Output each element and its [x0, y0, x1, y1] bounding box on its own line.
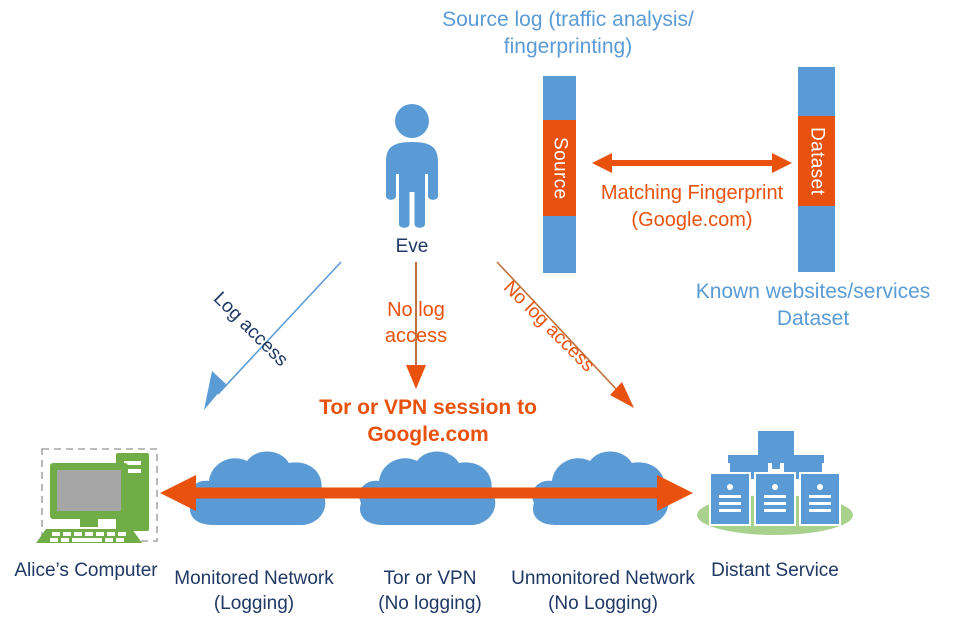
no-log-access-center-label: No log access: [356, 297, 476, 349]
session-path-arrow-icon: [160, 472, 693, 514]
network-label-tor-vpn-line2: (No logging): [360, 591, 500, 616]
person-icon: [378, 104, 446, 229]
network-label-unmonitored-line2: (No Logging): [505, 591, 701, 616]
source-log-title: Source log (traffic analysis/ fingerprin…: [388, 6, 748, 60]
network-label-unmonitored-line1: Unmonitored Network: [505, 566, 701, 591]
matching-fingerprint-arrow-icon: [592, 150, 792, 176]
dataset-bar: Dataset: [798, 67, 835, 272]
dataset-bar-bottom-segment: [798, 206, 835, 272]
network-label-unmonitored: Unmonitored Network (No Logging): [505, 566, 701, 616]
dataset-caption: Known websites/services Dataset: [668, 278, 957, 332]
no-log-access-center-line2: access: [356, 323, 476, 349]
source-log-title-line2: fingerprinting): [388, 33, 748, 60]
network-label-monitored-line2: (Logging): [163, 591, 345, 616]
source-bar-label: Source: [549, 137, 571, 200]
session-title-line1: Tor or VPN session to: [283, 394, 573, 421]
network-label-monitored: Monitored Network (Logging): [163, 566, 345, 616]
dataset-bar-highlight-segment: Dataset: [798, 116, 835, 206]
dataset-caption-line1: Known websites/services: [668, 278, 957, 305]
network-label-tor-vpn: Tor or VPN (No logging): [360, 566, 500, 616]
eve-label: Eve: [362, 234, 462, 259]
no-log-access-center-line1: No log: [356, 297, 476, 323]
dataset-bar-label: Dataset: [806, 127, 828, 195]
network-label-monitored-line1: Monitored Network: [163, 566, 345, 591]
alice-computer-label: Alice’s Computer: [0, 558, 172, 583]
source-bar-top-segment: [543, 76, 576, 120]
session-title: Tor or VPN session to Google.com: [283, 394, 573, 448]
source-log-title-line1: Source log (traffic analysis/: [388, 6, 748, 33]
distant-service-label: Distant Service: [690, 558, 860, 583]
desktop-computer-icon: [20, 443, 165, 548]
network-label-tor-vpn-line1: Tor or VPN: [360, 566, 500, 591]
source-bar: Source: [543, 76, 576, 273]
session-title-line2: Google.com: [283, 421, 573, 448]
source-bar-highlight-segment: Source: [543, 120, 576, 216]
server-stack-icon: [692, 425, 857, 535]
matching-fingerprint-label: Matching Fingerprint (Google.com): [592, 180, 792, 234]
matching-fingerprint-line1: Matching Fingerprint: [592, 180, 792, 207]
matching-fingerprint-line2: (Google.com): [592, 207, 792, 234]
dataset-bar-top-segment: [798, 67, 835, 116]
dataset-caption-line2: Dataset: [668, 305, 957, 332]
